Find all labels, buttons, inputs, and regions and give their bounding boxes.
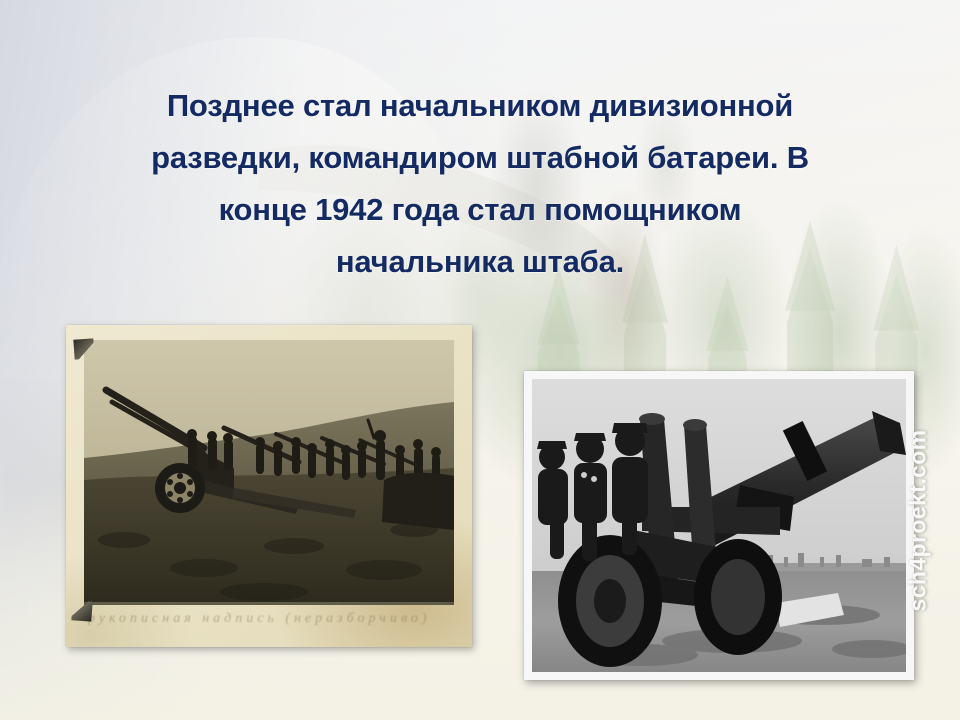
title-line-4: начальника штаба. [56, 236, 904, 288]
watermark-sch4proekt: sch4proekt.com [905, 412, 932, 612]
photo-left-vintage: рукописная надпись (неразборчиво) [66, 325, 472, 647]
photo-right-bw [524, 371, 914, 680]
artillery-battery-scene-icon [84, 340, 454, 602]
photo-left-handwritten-caption: рукописная надпись (неразборчиво) [88, 611, 454, 637]
title-line-3: конце 1942 года стал помощником [56, 184, 904, 236]
photo-right-image [532, 379, 906, 672]
photo-left-image [84, 340, 454, 605]
title-line-1: Позднее стал начальником дивизионной [56, 80, 904, 132]
presentation-slide: Позднее стал начальником дивизионной раз… [0, 0, 960, 720]
photo-left-torn-corner-top [73, 338, 94, 359]
howitzer-crew-scene-icon [532, 379, 906, 672]
title-line-2: разведки, командиром штабной батареи. В [56, 132, 904, 184]
slide-title: Позднее стал начальником дивизионной раз… [56, 80, 904, 288]
photo-left-torn-corner-bottom [71, 600, 92, 621]
